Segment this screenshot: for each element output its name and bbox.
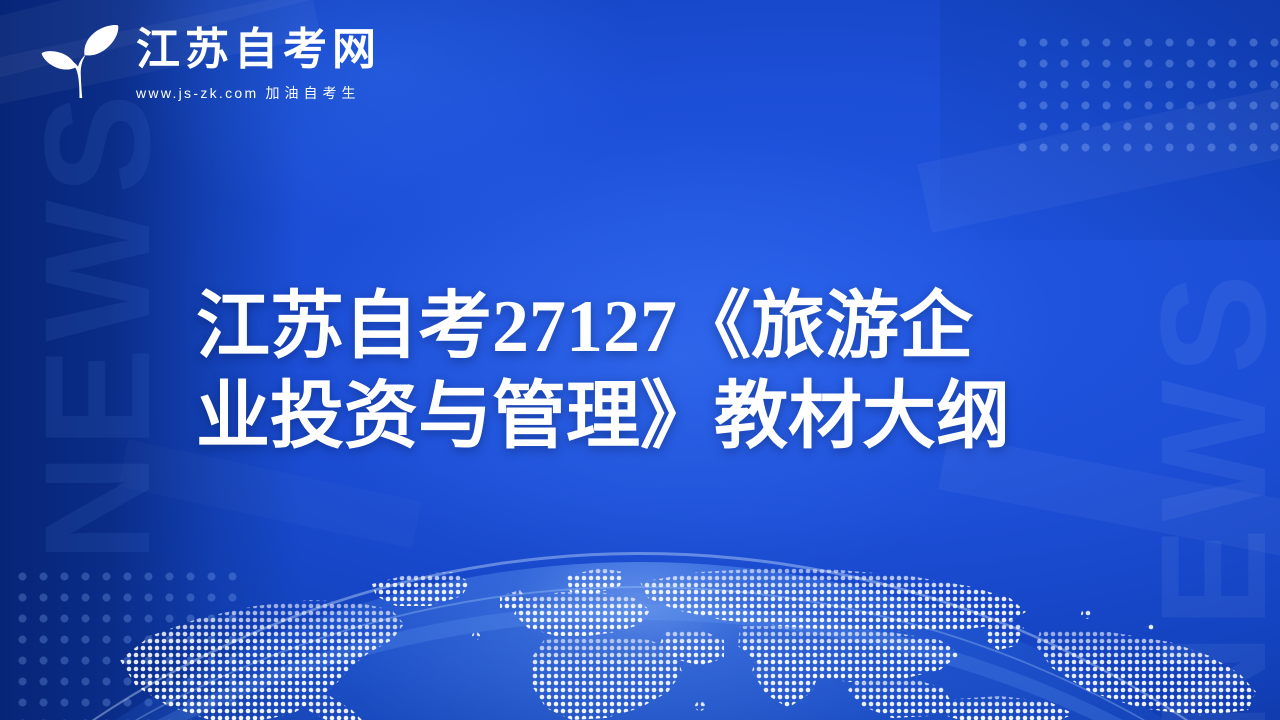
watermark-news-left: NEWS [22,88,172,562]
logo-tagline-slogan: 加油自考生 [265,85,360,101]
logo-tagline: www.js-zk.com加油自考生 [136,83,381,103]
sprout-icon [34,22,122,100]
logo-tagline-url: www.js-zk.com [136,85,258,101]
site-logo[interactable]: 江苏自考网 www.js-zk.com加油自考生 [34,22,381,103]
logo-text-block: 江苏自考网 www.js-zk.com加油自考生 [136,22,381,103]
page-title-line-2: 业投资与管理》教材大纲 [196,372,1096,462]
page-title: 江苏自考27127《旅游企 业投资与管理》教材大纲 [196,282,1096,462]
logo-title: 江苏自考网 [136,26,381,74]
dot-grid-top-right [1008,28,1280,158]
dot-grid-bottom-left [8,562,240,720]
page-title-line-1: 江苏自考27127《旅游企 [196,282,1096,372]
watermark-news-right: NEWS [1138,268,1280,720]
cover-image-canvas: NEWS NEWS [0,0,1280,720]
